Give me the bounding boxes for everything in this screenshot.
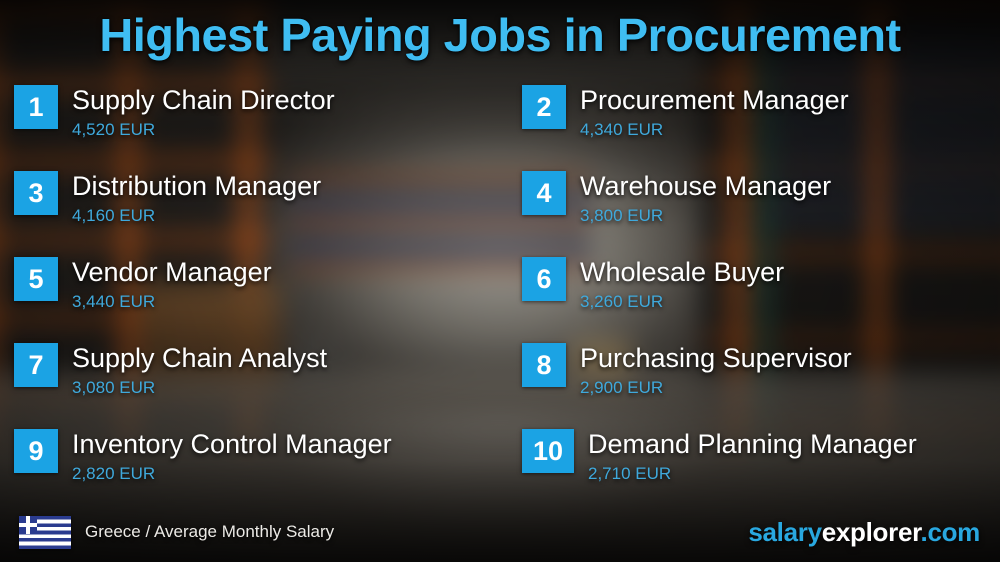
- country-label: Greece / Average Monthly Salary: [85, 522, 334, 542]
- list-item[interactable]: 9 Inventory Control Manager 2,820 EUR: [0, 428, 510, 514]
- rank-badge: 4: [522, 171, 566, 215]
- rank-badge: 10: [522, 429, 574, 473]
- job-salary: 2,710 EUR: [588, 463, 917, 485]
- list-item[interactable]: 2 Procurement Manager 4,340 EUR: [510, 84, 1000, 170]
- jobs-list: 1 Supply Chain Director 4,520 EUR 2 Proc…: [0, 84, 1000, 514]
- greece-flag-icon: [19, 516, 71, 549]
- rank-badge: 5: [14, 257, 58, 301]
- rank-badge: 2: [522, 85, 566, 129]
- job-salary: 3,080 EUR: [72, 377, 327, 399]
- list-item[interactable]: 4 Warehouse Manager 3,800 EUR: [510, 170, 1000, 256]
- job-title: Warehouse Manager: [580, 170, 831, 202]
- rank-badge: 7: [14, 343, 58, 387]
- list-item[interactable]: 5 Vendor Manager 3,440 EUR: [0, 256, 510, 342]
- item-texts: Warehouse Manager 3,800 EUR: [580, 170, 831, 227]
- brand-explorer: explorer: [822, 517, 921, 547]
- job-title: Purchasing Supervisor: [580, 342, 852, 374]
- list-item[interactable]: 7 Supply Chain Analyst 3,080 EUR: [0, 342, 510, 428]
- poster-content: Highest Paying Jobs in Procurement 1 Sup…: [0, 0, 1000, 562]
- job-salary: 3,800 EUR: [580, 205, 831, 227]
- job-title: Inventory Control Manager: [72, 428, 392, 460]
- footer: Greece / Average Monthly Salary salaryex…: [0, 504, 1000, 562]
- rank-badge: 6: [522, 257, 566, 301]
- rank-badge: 1: [14, 85, 58, 129]
- list-item[interactable]: 8 Purchasing Supervisor 2,900 EUR: [510, 342, 1000, 428]
- item-texts: Supply Chain Analyst 3,080 EUR: [72, 342, 327, 399]
- job-title: Vendor Manager: [72, 256, 272, 288]
- item-texts: Vendor Manager 3,440 EUR: [72, 256, 272, 313]
- item-texts: Supply Chain Director 4,520 EUR: [72, 84, 335, 141]
- item-texts: Procurement Manager 4,340 EUR: [580, 84, 849, 141]
- job-title: Supply Chain Analyst: [72, 342, 327, 374]
- job-title: Distribution Manager: [72, 170, 321, 202]
- job-salary: 4,340 EUR: [580, 119, 849, 141]
- brand-tld: .com: [921, 517, 980, 547]
- job-salary: 2,820 EUR: [72, 463, 392, 485]
- page-title: Highest Paying Jobs in Procurement: [0, 8, 1000, 62]
- job-salary: 4,520 EUR: [72, 119, 335, 141]
- list-item[interactable]: 1 Supply Chain Director 4,520 EUR: [0, 84, 510, 170]
- job-title: Wholesale Buyer: [580, 256, 784, 288]
- job-title: Procurement Manager: [580, 84, 849, 116]
- job-title: Supply Chain Director: [72, 84, 335, 116]
- brand-logo[interactable]: salaryexplorer.com: [748, 517, 980, 548]
- salary-infographic-poster: Highest Paying Jobs in Procurement 1 Sup…: [0, 0, 1000, 562]
- item-texts: Demand Planning Manager 2,710 EUR: [588, 428, 917, 485]
- job-salary: 3,440 EUR: [72, 291, 272, 313]
- job-salary: 2,900 EUR: [580, 377, 852, 399]
- job-salary: 3,260 EUR: [580, 291, 784, 313]
- item-texts: Wholesale Buyer 3,260 EUR: [580, 256, 784, 313]
- job-title: Demand Planning Manager: [588, 428, 917, 460]
- brand-salary: salary: [748, 517, 821, 547]
- item-texts: Distribution Manager 4,160 EUR: [72, 170, 321, 227]
- list-item[interactable]: 6 Wholesale Buyer 3,260 EUR: [510, 256, 1000, 342]
- rank-badge: 8: [522, 343, 566, 387]
- item-texts: Purchasing Supervisor 2,900 EUR: [580, 342, 852, 399]
- list-item[interactable]: 10 Demand Planning Manager 2,710 EUR: [510, 428, 1000, 514]
- list-item[interactable]: 3 Distribution Manager 4,160 EUR: [0, 170, 510, 256]
- item-texts: Inventory Control Manager 2,820 EUR: [72, 428, 392, 485]
- rank-badge: 9: [14, 429, 58, 473]
- job-salary: 4,160 EUR: [72, 205, 321, 227]
- rank-badge: 3: [14, 171, 58, 215]
